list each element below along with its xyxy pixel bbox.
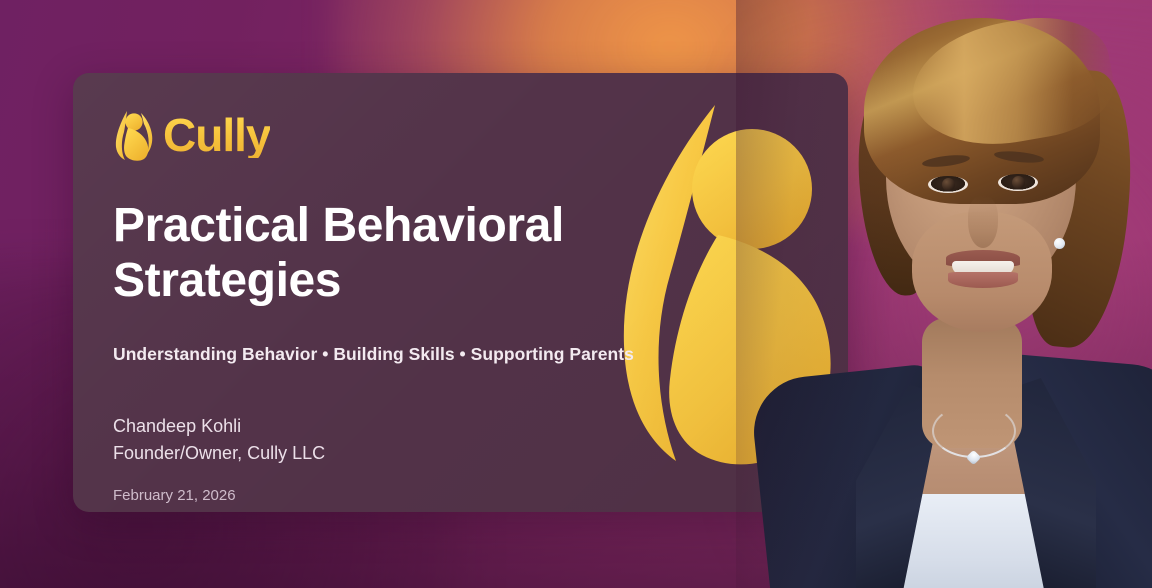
brand-wordmark: Cully (163, 112, 270, 158)
presenter-name: Chandeep Kohli (113, 416, 241, 436)
presenter-role: Founder/Owner, Cully LLC (113, 440, 808, 467)
cully-tulip-logo-icon (113, 109, 159, 161)
card-content: Cully Practical Behavioral Strategies Un… (113, 103, 808, 504)
brand-lockup: Cully (113, 103, 808, 167)
title-card: Cully Practical Behavioral Strategies Un… (73, 73, 848, 512)
page-title: Practical Behavioral Strategies (113, 199, 653, 308)
presentation-slide: Cully Practical Behavioral Strategies Un… (0, 0, 1152, 588)
presentation-date: February 21, 2026 (113, 487, 808, 504)
page-subtitle: Understanding Behavior • Building Skills… (113, 344, 808, 365)
presenter-block: Chandeep Kohli Founder/Owner, Cully LLC (113, 413, 808, 467)
